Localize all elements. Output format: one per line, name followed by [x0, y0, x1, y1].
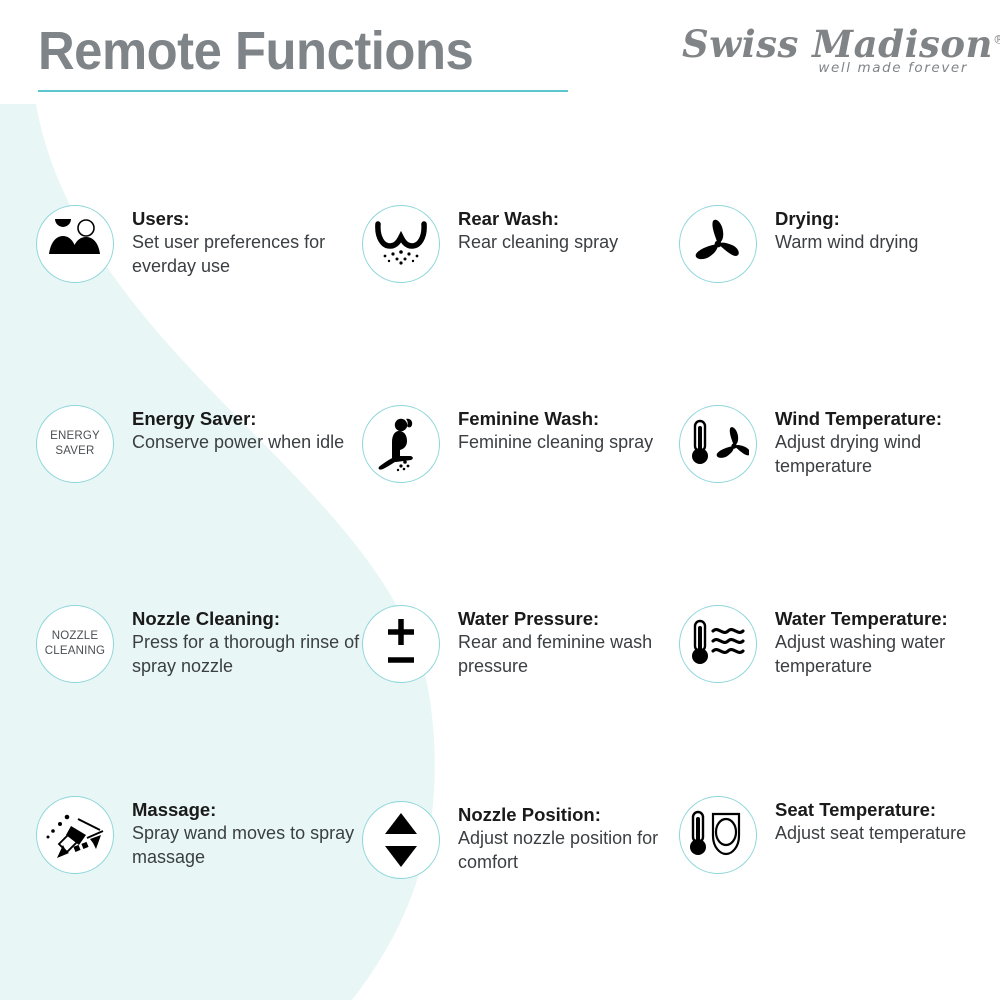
feature-description: Adjust washing water temperature [775, 631, 1000, 679]
feature-text: Nozzle Position: Adjust nozzle position … [458, 801, 708, 875]
feature-title: Massage: [132, 799, 382, 821]
feature-title: Feminine Wash: [458, 408, 653, 430]
feature-item-massage[interactable]: Massage: Spray wand moves to spray massa… [36, 796, 382, 874]
feature-text: Water Temperature: Adjust washing water … [775, 605, 1000, 679]
page-title: Remote Functions [38, 24, 473, 78]
registered-trademark-icon: ® [993, 33, 1000, 47]
icon-label: ENERGY SAVER [37, 429, 113, 458]
feature-text: Wind Temperature: Adjust drying wind tem… [775, 405, 1000, 479]
swiss-madison-logo: Swiss Madison® well made forever [682, 26, 972, 88]
brand-name: Swiss Madison® [682, 26, 972, 63]
feature-item-wind-temperature[interactable]: Wind Temperature: Adjust drying wind tem… [679, 405, 1000, 483]
feature-item-water-temperature[interactable]: Water Temperature: Adjust washing water … [679, 605, 1000, 683]
feature-title: Rear Wash: [458, 208, 618, 230]
page-header: Remote Functions Swiss Madison® well mad… [0, 0, 1000, 110]
icon-label: NOZZLE CLEANING [37, 629, 113, 658]
remote-functions-infographic: Remote Functions Swiss Madison® well mad… [0, 0, 1000, 1000]
seated-woman-spray-icon [362, 405, 440, 483]
feature-title: Water Temperature: [775, 608, 1000, 630]
feature-item-nozzle-cleaning[interactable]: NOZZLE CLEANING Nozzle Cleaning: Press f… [36, 605, 392, 683]
feature-title: Nozzle Cleaning: [132, 608, 392, 630]
feature-item-rear-wash[interactable]: Rear Wash: Rear cleaning spray [362, 205, 618, 283]
feature-title: Wind Temperature: [775, 408, 1000, 430]
feature-text: Seat Temperature: Adjust seat temperatur… [775, 796, 966, 846]
two-people-icon [36, 205, 114, 283]
text-badge-icon: NOZZLE CLEANING [36, 605, 114, 683]
feature-description: Rear cleaning spray [458, 231, 618, 255]
feature-description: Press for a thorough rinse of the spray … [132, 631, 392, 679]
feature-description: Adjust seat temperature [775, 822, 966, 846]
feature-description: Set user preferences for everday use [132, 231, 382, 279]
feature-title: Drying: [775, 208, 918, 230]
feature-item-energy-saver[interactable]: ENERGY SAVER Energy Saver: Conserve powe… [36, 405, 344, 483]
feature-item-drying[interactable]: Drying: Warm wind drying [679, 205, 918, 283]
feature-text: Rear Wash: Rear cleaning spray [458, 205, 618, 255]
feature-description: Warm wind drying [775, 231, 918, 255]
feature-title: Users: [132, 208, 382, 230]
up-down-triangles-icon [362, 801, 440, 879]
feature-title: Seat Temperature: [775, 799, 966, 821]
feature-text: Energy Saver: Conserve power when idle [132, 405, 344, 455]
spray-wand-arrows-icon [36, 796, 114, 874]
feature-text: Users: Set user preferences for everday … [132, 205, 382, 279]
thermometer-waves-icon [679, 605, 757, 683]
fan-blade-icon [679, 205, 757, 283]
feature-text: Massage: Spray wand moves to spray massa… [132, 796, 382, 870]
feature-text: Nozzle Cleaning: Press for a thorough ri… [132, 605, 392, 679]
feature-description: Adjust nozzle position for comfort [458, 827, 708, 875]
feature-text: Feminine Wash: Feminine cleaning spray [458, 405, 653, 455]
thermometer-seat-icon [679, 796, 757, 874]
feature-item-nozzle-position[interactable]: Nozzle Position: Adjust nozzle position … [362, 801, 708, 879]
thermometer-fan-icon [679, 405, 757, 483]
feature-text: Water Pressure: Rear and feminine wash p… [458, 605, 708, 679]
feature-title: Energy Saver: [132, 408, 344, 430]
feature-title: Water Pressure: [458, 608, 708, 630]
feature-grid: Users: Set user preferences for everday … [0, 0, 1000, 1000]
feature-item-feminine-wash[interactable]: Feminine Wash: Feminine cleaning spray [362, 405, 653, 483]
feature-description: Rear and feminine wash pressure [458, 631, 708, 679]
plus-minus-icon [362, 605, 440, 683]
feature-description: Adjust drying wind temperature [775, 431, 1000, 479]
feature-text: Drying: Warm wind drying [775, 205, 918, 255]
title-underline-rule [38, 90, 568, 92]
text-badge-icon: ENERGY SAVER [36, 405, 114, 483]
feature-title: Nozzle Position: [458, 804, 708, 826]
rear-wash-spray-icon [362, 205, 440, 283]
feature-description: Spray wand moves to spray massage [132, 822, 382, 870]
feature-description: Conserve power when idle [132, 431, 344, 455]
feature-item-users[interactable]: Users: Set user preferences for everday … [36, 205, 382, 283]
feature-item-seat-temperature[interactable]: Seat Temperature: Adjust seat temperatur… [679, 796, 966, 874]
feature-description: Feminine cleaning spray [458, 431, 653, 455]
feature-item-water-pressure[interactable]: Water Pressure: Rear and feminine wash p… [362, 605, 708, 683]
